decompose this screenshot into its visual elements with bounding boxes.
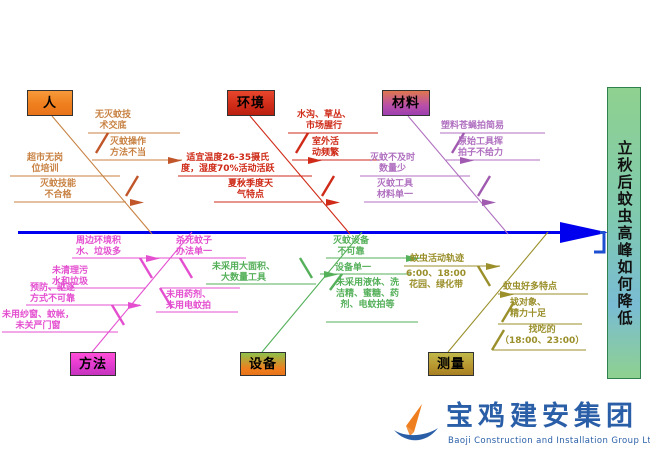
subbone-mat-arrow-3 <box>478 176 490 196</box>
cause-measure-5: 找吃的 （18:00、23:00） <box>500 325 584 347</box>
logo-company-name-cn: 宝鸡建安集团 <box>446 400 638 434</box>
subbone-met-arrow-4 <box>112 305 124 325</box>
subbone-met-arrow-5 <box>180 258 192 278</box>
cause-equipment-4: 未采用液体、洗 洁精、蜜糖、药 剂、电蚊拍等 <box>336 278 399 311</box>
cause-people-4: 灭蚊技能 不合格 <box>40 179 76 201</box>
subbone-eq-arrow-2 <box>300 258 312 278</box>
cause-environment-2: 室外活 动频繁 <box>312 137 339 159</box>
logo-company-name-en: Baoji Construction and Installation Grou… <box>448 436 650 446</box>
arrow-mat-4 <box>482 199 496 206</box>
category-box-equipment[interactable]: 设备 <box>240 352 286 376</box>
category-box-environment[interactable]: 环境 <box>227 90 275 116</box>
bone-environment <box>250 116 350 234</box>
arrow-people-2 <box>168 157 182 164</box>
cause-measure-2: 6:00、18:00 花园、绿化带 <box>406 269 466 291</box>
cause-method-3: 预防、驱逐 方式不可靠 <box>30 283 75 305</box>
category-label-environment: 环境 <box>237 97 265 110</box>
subbone-env-arrow-3 <box>322 176 334 196</box>
category-label-measure: 测量 <box>437 358 465 371</box>
subbone-env-arrow-1 <box>296 133 308 153</box>
cause-material-4: 灭蚊工具 材料单一 <box>377 179 413 201</box>
subbone-people-arrow-1 <box>96 133 108 153</box>
cause-method-5: 杀死蚊子 办法单一 <box>176 236 212 258</box>
arrow-met-3 <box>128 302 142 309</box>
arrow-env-4 <box>326 199 340 206</box>
category-box-people[interactable]: 人 <box>27 90 73 116</box>
logo-mark-icon <box>392 402 440 446</box>
category-label-method: 方法 <box>79 358 107 371</box>
bone-people <box>52 116 152 234</box>
category-label-people: 人 <box>43 97 57 110</box>
subbone-mea-arrow-2 <box>478 266 490 286</box>
company-logo: 宝鸡建安集团 Baoji Construction and Installati… <box>392 398 648 456</box>
category-box-method[interactable]: 方法 <box>70 352 116 376</box>
cause-method-1: 周边环境积 水、垃圾多 <box>76 236 121 258</box>
cause-material-3: 灭蚊不及时 数量少 <box>370 153 415 175</box>
cause-people-3: 超市无岗 位培训 <box>27 153 63 175</box>
cause-measure-1: 蚊虫活动轨迹 <box>410 254 464 265</box>
problem-statement-text: 立秋后蚊虫高峰如何降低 <box>608 88 640 378</box>
cause-method-6: 未用药剂、 未用电蚊拍 <box>166 290 211 312</box>
cause-environment-4: 夏秋季度天 气特点 <box>228 179 273 201</box>
cause-environment-1: 水沟、草丛、 市场腥行 <box>297 110 351 132</box>
cause-material-2: 原始工具挥 拍子不给力 <box>458 137 503 159</box>
fishbone-diagram: 人 环境 材料 方法 设备 测量 无灭蚊技 术交底 灭蚊操作 方法不当 超市无岗… <box>0 0 650 459</box>
subbone-people-arrow-3 <box>126 176 138 196</box>
arrow-met-1 <box>146 255 160 262</box>
category-box-material[interactable]: 材料 <box>382 90 430 116</box>
bone-material <box>408 116 508 234</box>
category-label-material: 材料 <box>392 97 420 110</box>
spine-arrowhead <box>560 222 608 243</box>
diagram-wires <box>0 0 650 459</box>
cause-people-1: 无灭蚊技 术交底 <box>95 110 131 132</box>
cause-material-1: 塑料苍蝇拍简易 <box>441 121 504 132</box>
cause-equipment-2: 未采用大面积、 大数量工具 <box>212 262 275 284</box>
category-box-measure[interactable]: 测量 <box>428 352 474 376</box>
subbone-met-arrow-2 <box>140 258 152 278</box>
head-connector <box>594 233 604 253</box>
arrow-people-4 <box>130 199 144 206</box>
cause-equipment-3: 设备单一 <box>335 263 371 274</box>
cause-people-2: 灭蚊操作 方法不当 <box>110 137 146 159</box>
cause-equipment-1: 灭蚊设备 不可靠 <box>333 236 369 258</box>
cause-measure-4: 找对象、 精力十足 <box>510 298 546 320</box>
arrow-mea-1 <box>486 263 500 270</box>
cause-method-4: 未用纱窗、蚊帐， 未关严门窗 <box>2 310 74 332</box>
cause-environment-3: 适宜温度26-35摄氏 度，湿度70%活动活跃 <box>181 153 275 175</box>
cause-measure-3: 蚊虫好多特点 <box>503 282 557 293</box>
problem-statement-box[interactable]: 立秋后蚊虫高峰如何降低 <box>607 87 641 379</box>
category-label-equipment: 设备 <box>249 358 277 371</box>
